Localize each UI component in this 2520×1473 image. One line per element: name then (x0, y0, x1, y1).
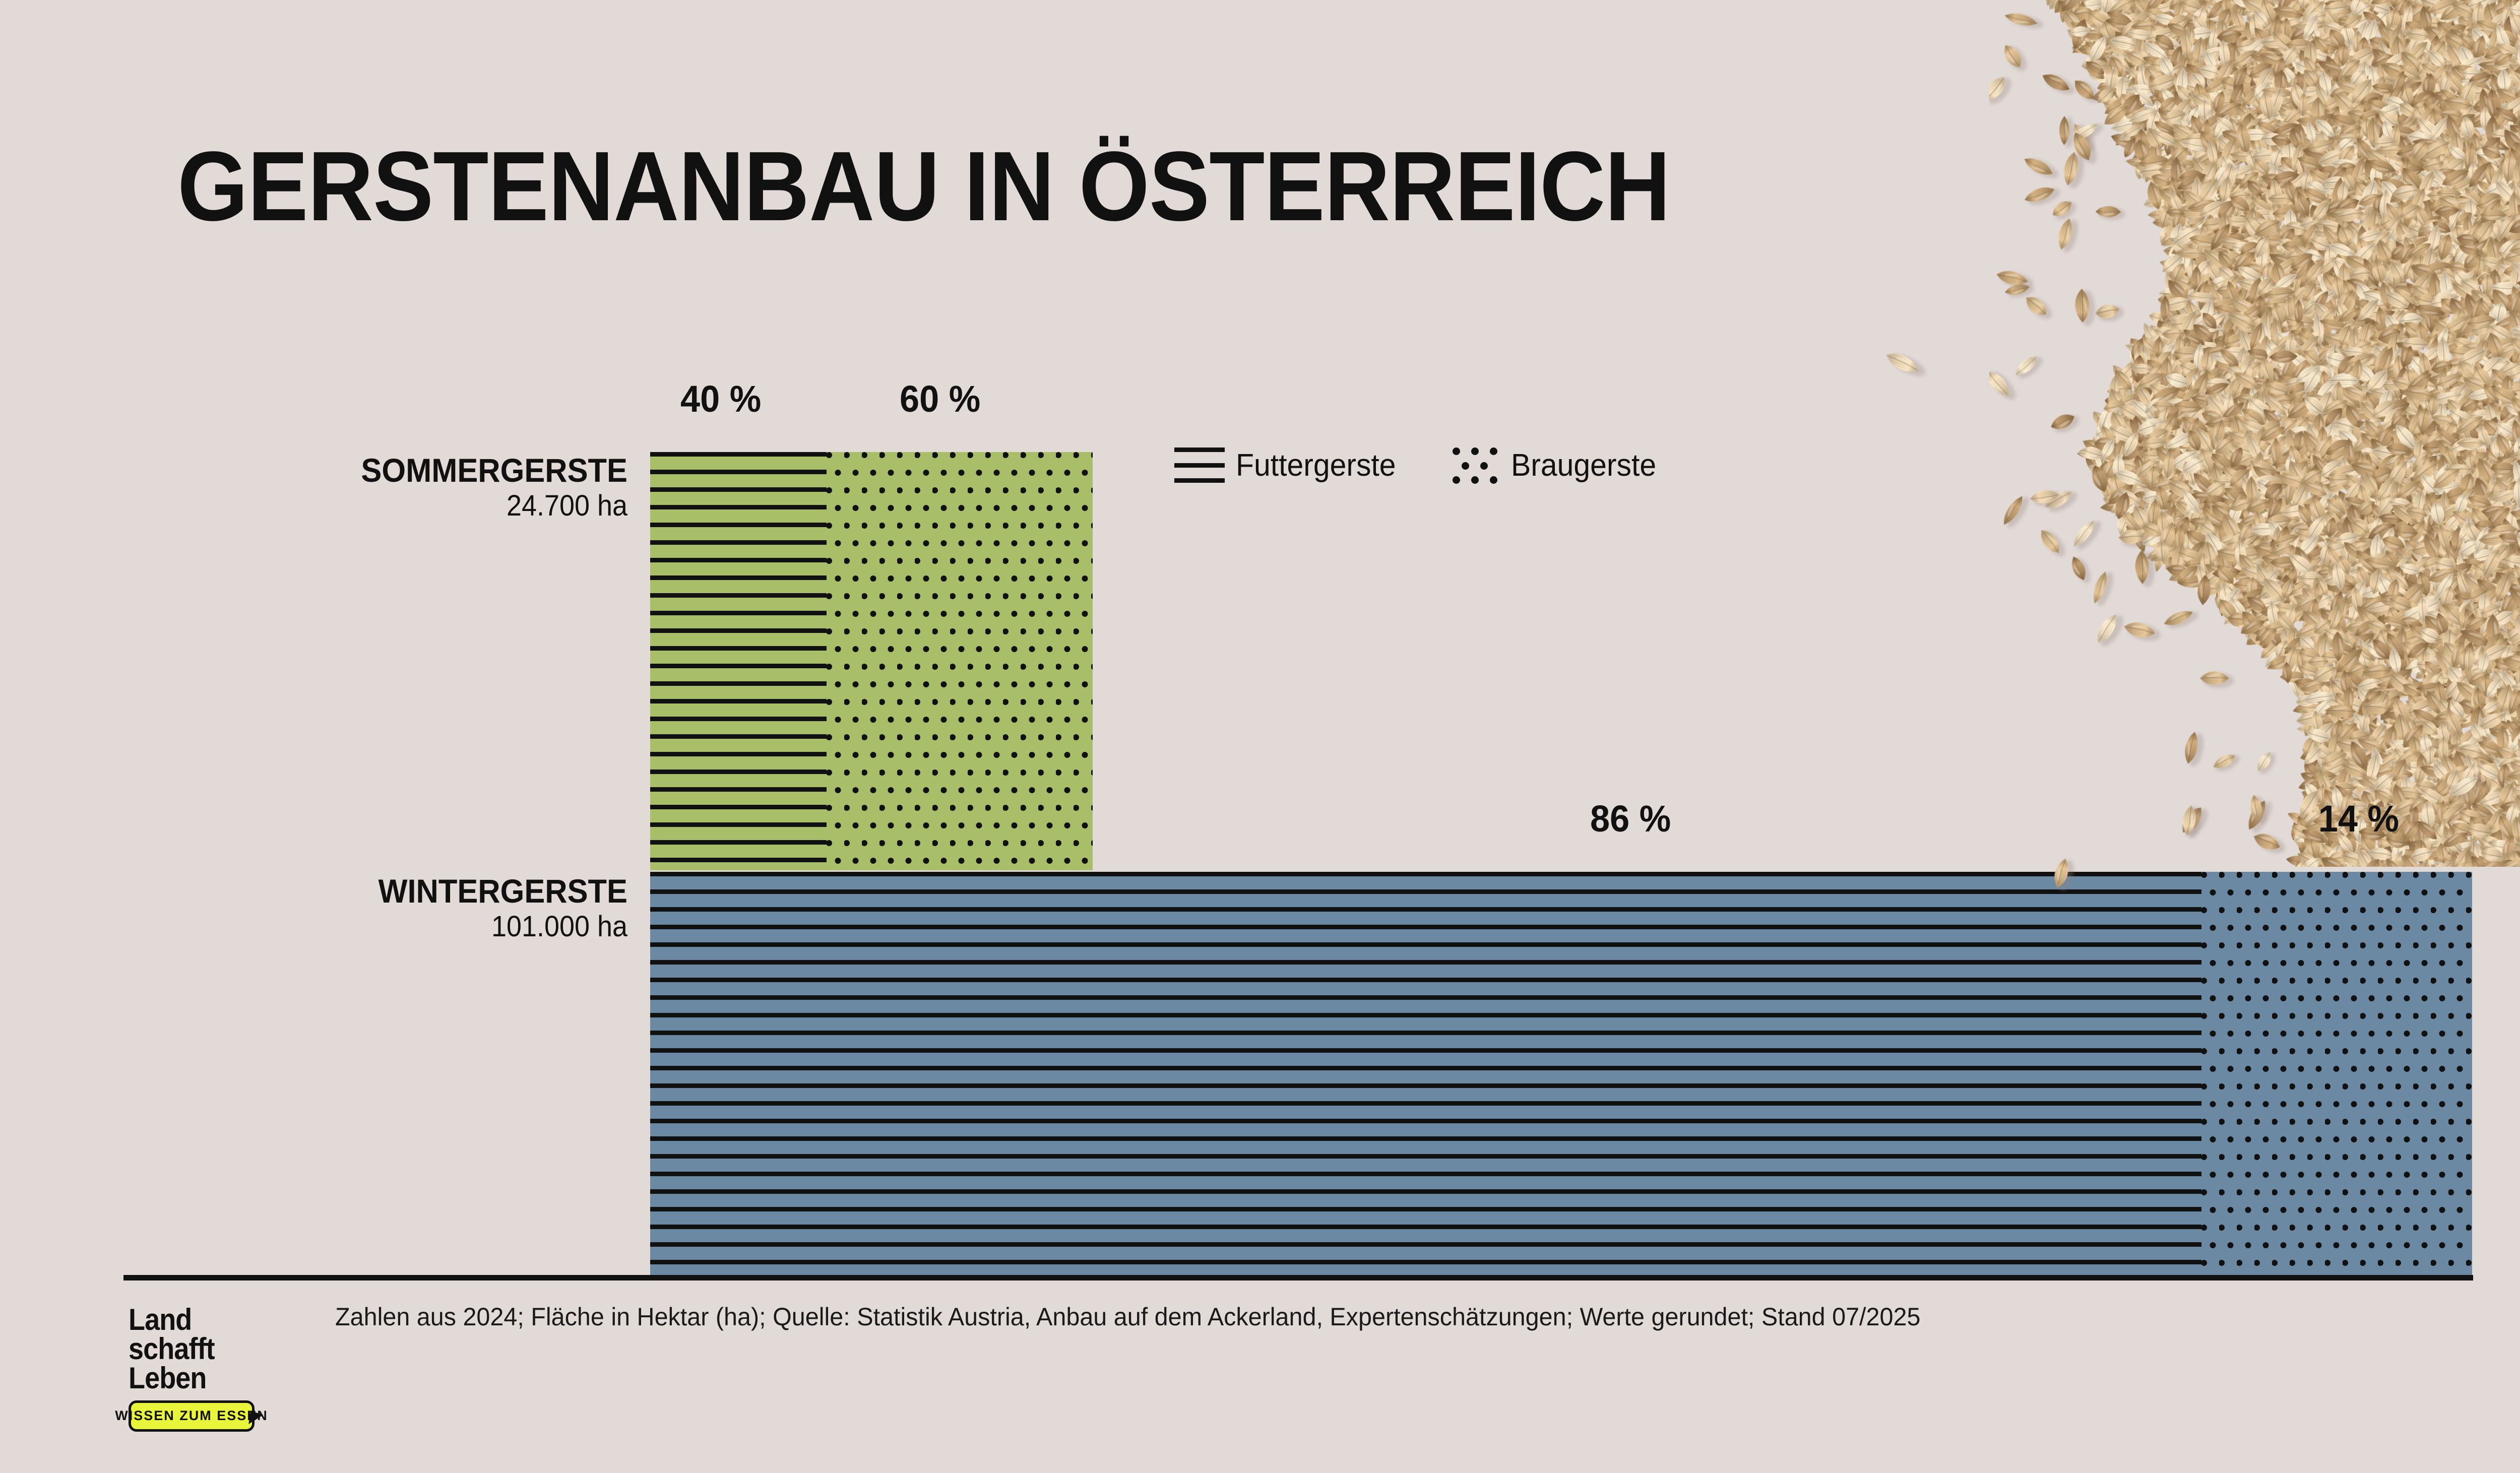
pct-label-wintergerste-braugerste: 14 % (2169, 800, 2399, 838)
horizontal-lines-icon (1174, 443, 1225, 487)
legend-label: Futtergerste (1236, 447, 1396, 483)
legend-label: Braugerste (1511, 447, 1656, 483)
category-name: WINTERGERSTE (44, 874, 627, 908)
barley-grain-float (2439, 766, 2490, 806)
segment-wintergerste-futtergerste (650, 872, 2201, 1278)
category-label-wintergerste: WINTERGERSTE 101.000 ha (0, 874, 627, 946)
logo-line-2: schafft (129, 1334, 283, 1364)
segment-wintergerste-braugerste (2201, 872, 2472, 1278)
pct-label-sommergerste-futtergerste: 40 % (680, 380, 761, 418)
category-name: SOMMERGERSTE (44, 454, 627, 487)
pct-label-sommergerste-braugerste: 60 % (900, 380, 980, 418)
logo-line-3: Leben (129, 1364, 283, 1393)
legend-item-futtergerste[interactable]: Futtergerste (1174, 443, 1404, 487)
pct-label-wintergerste-futtergerste: 86 % (1590, 800, 1671, 838)
bar-sommergerste (650, 452, 1093, 870)
bar-wintergerste (650, 872, 2472, 1278)
axis-baseline (123, 1275, 2473, 1280)
dots-icon (1450, 443, 1500, 487)
barley-grain-float (1875, 343, 1930, 383)
badge-text: WISSEN ZUM ESSEN (129, 1400, 255, 1432)
legend: Futtergerste Braugerste (1174, 443, 1664, 487)
logo-line-1: Land (129, 1305, 283, 1334)
logo-badge: WISSEN ZUM ESSEN (129, 1400, 264, 1432)
source-note: Zahlen aus 2024; Fläche in Hektar (ha); … (335, 1302, 1920, 1331)
legend-item-braugerste[interactable]: Braugerste (1450, 443, 1664, 487)
category-area: 24.700 ha (44, 487, 627, 525)
bar-chart: SOMMERGERSTE 24.700 ha 40 % 60 % WINTERG… (0, 0, 2520, 1473)
segment-sommergerste-braugerste (827, 452, 1093, 870)
category-label-sommergerste: SOMMERGERSTE 24.700 ha (0, 454, 627, 525)
segment-sommergerste-futtergerste (650, 452, 827, 870)
barley-grain-overlap (2034, 851, 2089, 896)
category-area: 101.000 ha (44, 908, 627, 945)
logo-land-schafft-leben[interactable]: Land schafft Leben WISSEN ZUM ESSEN (129, 1305, 300, 1432)
